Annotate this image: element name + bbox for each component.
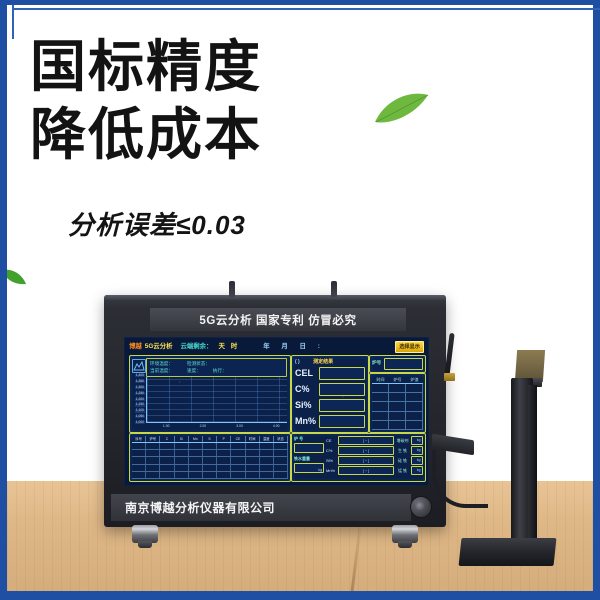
alloy-calculation-panel: 炉 号 铁水重量 kg CE [ ~ ] 增碳剂 kg: [291, 433, 426, 482]
calc-row-ce: CE [ ~ ] 增碳剂 kg: [326, 436, 423, 445]
device-company-name: 南京博越分析仪器有限公司: [111, 494, 411, 521]
table-column-header: P: [217, 436, 231, 442]
furnace-log-row[interactable]: [372, 412, 423, 421]
table-cell: [260, 472, 274, 478]
execute-label: 执行：: [213, 368, 227, 375]
furnace-number-panel: 炉号: [369, 355, 426, 373]
sample-stand-base: [459, 538, 557, 566]
chart-y-tick: 1,400: [135, 374, 145, 377]
table-cell: [203, 443, 217, 449]
measurement-history-table-panel[interactable]: 序号炉号CSiMnSPCE时间温度状态: [129, 433, 291, 482]
leaf-icon: [372, 92, 430, 126]
calc-row-si: Si% [ ~ ] 硅 铁 kg: [326, 456, 423, 465]
table-row[interactable]: [132, 457, 288, 464]
table-row[interactable]: [132, 465, 288, 472]
result-value-c[interactable]: [319, 383, 365, 396]
furnace-log-cell: [389, 421, 406, 429]
calc-element-mn: Mn%: [326, 468, 338, 473]
power-knob[interactable]: [410, 496, 432, 518]
chart-y-tick: 1,150: [135, 403, 145, 406]
screen-status-bar: 博越 5G云分析 云端剩余： 天 时 年 月 日 : 选择显示: [125, 338, 428, 353]
result-row-si: Si%: [295, 399, 365, 412]
additive-unit-ferromanganese: kg: [417, 468, 421, 472]
table-cell: [175, 450, 189, 456]
device-handle-left: [229, 281, 235, 297]
table-cell: [231, 472, 245, 478]
molten-weight-label: 铁水重量: [294, 456, 324, 462]
table-cell: [246, 472, 260, 478]
additive-value-ferrosilicon[interactable]: kg: [411, 456, 423, 466]
table-cell: [189, 450, 203, 456]
table-cell: [160, 450, 174, 456]
table-cell: [246, 465, 260, 471]
furnace-log-column-header: 时间: [372, 376, 389, 383]
detect-status-label: 检测状态：: [187, 361, 210, 368]
table-row[interactable]: [132, 450, 288, 457]
table-column-header: C: [160, 436, 174, 442]
cloud-remaining-label: 云端剩余：: [180, 341, 212, 350]
ambient-temp-label: 环境温度：: [150, 361, 173, 368]
calc-left-column: 炉 号 铁水重量 kg: [294, 436, 324, 479]
furnace-log-header: 时间炉号炉渣: [372, 376, 423, 383]
table-column-header: 时间: [246, 436, 260, 442]
table-cell: [274, 465, 288, 471]
table-column-header: 状态: [274, 436, 288, 442]
table-cell: [189, 472, 203, 478]
table-cell: [189, 465, 203, 471]
calc-range-mn[interactable]: [ ~ ]: [338, 466, 394, 476]
additive-label-carburizer: 增碳剂: [394, 438, 411, 444]
headline-line-2: 降低成本: [30, 104, 390, 166]
cloud-days-value: 天: [218, 341, 224, 350]
table-body: [132, 443, 288, 479]
table-cell: [175, 472, 189, 478]
result-value-cel[interactable]: [319, 367, 365, 380]
table-cell: [160, 457, 174, 463]
additive-label-ferromanganese: 锰 铁: [394, 468, 411, 474]
furnace-log-cell: [406, 421, 423, 429]
calc-element-si: Si%: [326, 458, 338, 463]
table-cell: [175, 465, 189, 471]
table-cell: [160, 472, 174, 478]
table-cell: [231, 465, 245, 471]
table-cell: [260, 443, 274, 449]
table-cell: [274, 457, 288, 463]
table-cell: [132, 465, 146, 471]
furnace-log-table: 时间炉号炉渣: [372, 376, 423, 430]
result-row-cel: CEL: [295, 367, 365, 380]
result-label-mn: Mn%: [295, 417, 319, 426]
chart-x-tick: 2.00: [200, 424, 207, 428]
calc-furnace-input[interactable]: [294, 443, 324, 453]
furnace-log-cell: [389, 412, 406, 420]
table-cell: [217, 443, 231, 449]
chart-icon: [132, 359, 146, 373]
table-cell: [146, 472, 160, 478]
furnace-log-cell: [406, 384, 423, 392]
result-value-mn[interactable]: [319, 415, 365, 428]
table-cell: [260, 450, 274, 456]
table-cell: [146, 450, 160, 456]
chart-y-tick: 1,250: [135, 392, 145, 395]
headline-line-1: 国标精度: [30, 36, 390, 98]
calc-furnace-label: 炉 号: [294, 436, 324, 442]
table-cell: [274, 472, 288, 478]
table-cell: [231, 443, 245, 449]
table-cell: [175, 443, 189, 449]
chart-y-tick: 1,200: [135, 398, 145, 401]
table-cell: [132, 472, 146, 478]
chart-x-axis: 1.002.003.004.00: [146, 424, 287, 430]
table-cell: [246, 450, 260, 456]
furnace-log-row[interactable]: [372, 393, 423, 402]
furnace-log-row[interactable]: [372, 402, 423, 411]
table-cell: [203, 465, 217, 471]
calc-rows: CE [ ~ ] 增碳剂 kg C% [ ~ ] 生 铁 kg Si%: [326, 436, 423, 479]
cloud-hours-value: 时: [231, 341, 237, 350]
chart-x-tick: 4.00: [273, 424, 280, 428]
table-cell: [217, 450, 231, 456]
furnace-log-cell: [389, 393, 406, 401]
table-cell: [217, 457, 231, 463]
cooling-curve-plot: [146, 377, 287, 423]
furnace-log-cell: [406, 402, 423, 410]
calc-row-c: C% [ ~ ] 生 铁 kg: [326, 446, 423, 455]
speed-label: 速度：: [187, 368, 201, 375]
furnace-log-cell: [372, 384, 389, 392]
molten-weight-input[interactable]: kg: [294, 463, 324, 473]
table-cell: [132, 457, 146, 463]
table-column-header: S: [203, 436, 217, 442]
frame-border-right: [593, 0, 600, 600]
table-cell: [246, 457, 260, 463]
chart-y-tick: 1,000: [135, 421, 145, 424]
table-column-header: Si: [175, 436, 189, 442]
calc-range-ce[interactable]: [ ~ ]: [338, 436, 394, 446]
sample-stand-column-rear: [528, 385, 537, 540]
furnace-number-input[interactable]: [384, 358, 423, 370]
table-column-header: CE: [231, 436, 245, 442]
furnace-log-panel[interactable]: 时间炉号炉渣: [369, 373, 426, 433]
table-cell: [260, 457, 274, 463]
brand-label: 博越: [129, 341, 142, 350]
calc-element-ce: CE: [326, 438, 338, 443]
table-cell: [160, 465, 174, 471]
additive-unit-ferrosilicon: kg: [417, 458, 421, 462]
table-header-row: 序号炉号CSiMnSPCE时间温度状态: [132, 436, 288, 443]
table-row[interactable]: [132, 443, 288, 450]
device-foot-left: [132, 525, 158, 543]
result-row-mn: Mn%: [295, 415, 365, 428]
furnace-number-label: 炉号: [372, 360, 381, 366]
calc-range-c[interactable]: [ ~ ]: [338, 446, 394, 456]
table-cell: [246, 443, 260, 449]
table-cell: [146, 443, 160, 449]
table-cell: [160, 443, 174, 449]
table-cell: [146, 465, 160, 471]
table-cell: [132, 443, 146, 449]
table-cell: [231, 450, 245, 456]
table-cell: [217, 472, 231, 478]
chart-y-tick: 1,100: [135, 409, 145, 412]
device-foot-right: [392, 525, 418, 543]
data-table: 序号炉号CSiMnSPCE时间温度状态: [132, 436, 288, 479]
additive-unit-carburizer: kg: [417, 438, 421, 442]
frame-border-left: [0, 0, 7, 600]
table-cell: [132, 450, 146, 456]
app-title: 5G云分析: [145, 341, 173, 350]
results-header: ( ) 测定结果: [295, 358, 365, 366]
additive-value-ferromanganese[interactable]: kg: [411, 466, 423, 476]
furnace-log-cell: [372, 402, 389, 410]
chart-y-tick: 1,350: [135, 380, 145, 383]
molten-weight-unit: kg: [318, 468, 322, 472]
table-column-header: 温度: [260, 436, 274, 442]
calc-element-c: C%: [326, 448, 338, 453]
calc-range-si[interactable]: [ ~ ]: [338, 456, 394, 466]
calc-row-mn: Mn% [ ~ ] 锰 铁 kg: [326, 466, 423, 475]
temperature-chart-panel: 环境温度： 检测状态： 当前温度： 速度： 执行： 1,4001,3501,30…: [129, 355, 291, 433]
table-cell: [189, 457, 203, 463]
result-label-si: Si%: [295, 401, 319, 410]
table-cell: [274, 443, 288, 449]
device-banner: 5G云分析 国家专利 仿冒必究: [150, 308, 406, 331]
furnace-log-cell: [372, 393, 389, 401]
furnace-log-row[interactable]: [372, 384, 423, 393]
result-row-c: C%: [295, 383, 365, 396]
additive-value-pigiron[interactable]: kg: [411, 446, 423, 456]
result-label-c: C%: [295, 385, 319, 394]
additive-label-ferrosilicon: 硅 铁: [394, 458, 411, 464]
chart-y-tick: 1,050: [135, 415, 145, 418]
antenna-connector: [444, 373, 455, 381]
furnace-log-cell: [372, 412, 389, 420]
furnace-log-cell: [406, 393, 423, 401]
table-cell: [203, 472, 217, 478]
table-cell: [217, 465, 231, 471]
table-cell: [146, 457, 160, 463]
table-column-header: Mn: [189, 436, 203, 442]
furnace-log-cell: [406, 412, 423, 420]
table-cell: [175, 457, 189, 463]
measurement-results-panel: ( ) 测定结果 CEL C% Si% Mn%: [291, 355, 369, 433]
date-display: 年 月 日 :: [263, 341, 325, 350]
device-screen[interactable]: 博越 5G云分析 云端剩余： 天 时 年 月 日 : 选择显示 环境温度： 检测…: [124, 337, 429, 486]
furnace-log-cell: [389, 384, 406, 392]
additive-value-carburizer[interactable]: kg: [411, 436, 423, 446]
product-marketing-image: 国标精度 降低成本 分析误差≤0.03 5G云分析 国家专利 仿冒必究 博越 5…: [0, 0, 600, 600]
frame-accent-top: [12, 8, 600, 10]
chart-y-axis: 1,4001,3501,3001,2501,2001,1501,1001,050…: [131, 376, 145, 423]
furnace-log-cell: [372, 421, 389, 429]
table-column-header: 序号: [132, 436, 146, 442]
results-title: 测定结果: [313, 359, 333, 365]
frame-border-bottom: [0, 591, 600, 600]
metal-analyzer-device: 5G云分析 国家专利 仿冒必究 博越 5G云分析 云端剩余： 天 时 年 月 日…: [104, 295, 446, 527]
additive-unit-pigiron: kg: [417, 448, 421, 452]
table-cell: [231, 457, 245, 463]
furnace-log-column-header: 炉渣: [406, 376, 423, 383]
furnace-log-column-header: 炉号: [389, 376, 406, 383]
chart-status-header: 环境温度： 检测状态： 当前温度： 速度： 执行：: [146, 358, 287, 377]
furnace-log-cell: [389, 402, 406, 410]
result-label-cel: CEL: [295, 369, 319, 378]
additive-label-pigiron: 生 铁: [394, 448, 411, 454]
sub-headline: 分析误差≤0.03: [68, 205, 246, 242]
table-cell: [203, 450, 217, 456]
select-display-button[interactable]: 选择显示: [395, 341, 424, 353]
table-row[interactable]: [132, 472, 288, 479]
device-handle-right: [331, 281, 337, 297]
table-cell: [260, 465, 274, 471]
table-cell: [189, 443, 203, 449]
frame-border-top: [0, 0, 600, 5]
chart-x-tick: 1.00: [163, 424, 170, 428]
headline-block: 国标精度 降低成本: [30, 36, 390, 166]
furnace-log-row[interactable]: [372, 421, 423, 430]
table-column-header: 炉号: [146, 436, 160, 442]
table-cell: [274, 450, 288, 456]
frame-accent-left: [12, 5, 14, 39]
result-value-si[interactable]: [319, 399, 365, 412]
chart-y-tick: 1,300: [135, 386, 145, 389]
chart-x-tick: 3.00: [236, 424, 243, 428]
furnace-log-body: [372, 383, 423, 430]
results-paren: ( ): [295, 359, 300, 365]
table-cell: [203, 457, 217, 463]
current-temp-label: 当前温度：: [150, 368, 173, 375]
